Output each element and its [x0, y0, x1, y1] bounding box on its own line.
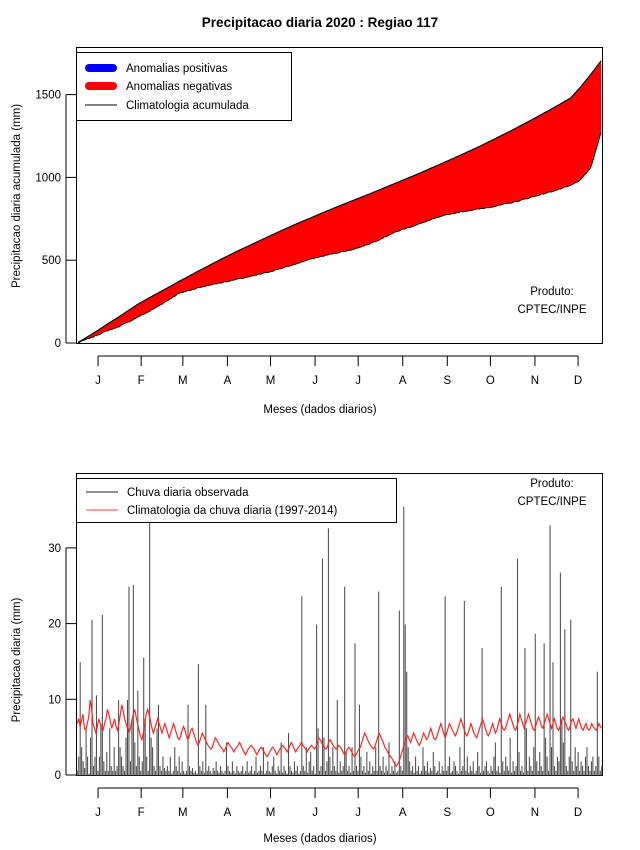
- cumulative-y-axis: 0 500 1000 1500: [35, 90, 76, 350]
- daily-y-axis-title: Precipitacao diaria (mm): [11, 598, 23, 723]
- legend-label-climatology-daily: Climatologia da chuva diaria (1997-2014): [127, 505, 337, 517]
- daily-xtick-D: D: [574, 807, 582, 819]
- legend-swatch-negative-anomaly: [85, 82, 117, 90]
- legend-label-observed-rain: Chuva diaria observada: [127, 487, 249, 499]
- climatology-daily-line: [77, 700, 602, 766]
- produto-value-bottom: CPTEC/INPE: [517, 496, 586, 508]
- daily-ytick-30: 30: [48, 543, 61, 555]
- daily-precipitation-panel: 0 10 20 30 Precipitacao diaria (mm) JFMA…: [0, 430, 640, 850]
- cumulative-ytick-0: 0: [55, 338, 61, 350]
- daily-xtick-S: S: [443, 807, 451, 819]
- daily-xtick-M: M: [178, 807, 188, 819]
- daily-xtick-O: O: [486, 807, 495, 819]
- daily-series-group: [77, 488, 602, 776]
- produto-value-top: CPTEC/INPE: [517, 304, 586, 316]
- daily-x-axis-title: Meses (dados diarios): [263, 833, 376, 845]
- daily-chart-svg: 0 10 20 30 Precipitacao diaria (mm) JFMA…: [0, 430, 640, 850]
- cumulative-ytick-500: 500: [42, 255, 61, 267]
- cumulative-xtick-N: N: [531, 375, 539, 387]
- daily-ytick-20: 20: [48, 619, 61, 631]
- cumulative-x-axis-title: Meses (dados diarios): [263, 404, 376, 416]
- daily-legend: Chuva diaria observada Climatologia da c…: [77, 479, 397, 523]
- cumulative-chart-svg: Precipitacao diaria 2020 : Regiao 117 0 …: [0, 0, 640, 430]
- cumulative-xtick-A: A: [224, 375, 232, 387]
- daily-xtick-A: A: [224, 807, 232, 819]
- figure-root: Precipitacao diaria 2020 : Regiao 117 0 …: [0, 0, 640, 850]
- legend-label-negative-anomaly: Anomalias negativas: [126, 81, 232, 93]
- cumulative-ytick-1500: 1500: [35, 90, 61, 102]
- cumulative-xtick-S: S: [443, 375, 451, 387]
- produto-label-bottom: Produto:: [530, 478, 573, 490]
- legend-label-positive-anomaly: Anomalias positivas: [126, 63, 228, 75]
- daily-xtick-A: A: [399, 807, 407, 819]
- daily-xtick-F: F: [138, 807, 145, 819]
- cumulative-xtick-J: J: [355, 375, 361, 387]
- cumulative-xtick-J: J: [312, 375, 318, 387]
- cumulative-xtick-A: A: [399, 375, 407, 387]
- daily-x-axis: JFMAMJJASOND: [95, 788, 582, 819]
- cumulative-xtick-D: D: [574, 375, 582, 387]
- daily-xtick-J: J: [95, 807, 101, 819]
- cumulative-xtick-J: J: [95, 375, 101, 387]
- cumulative-y-axis-title: Precipitacao diaria acumulada (mm): [11, 104, 23, 288]
- produto-annotation-bottom: Produto: CPTEC/INPE: [517, 478, 586, 508]
- cumulative-xtick-M: M: [178, 375, 188, 387]
- daily-xtick-N: N: [531, 807, 539, 819]
- cumulative-ytick-1000: 1000: [35, 172, 61, 184]
- cumulative-legend: Anomalias positivas Anomalias negativas …: [77, 53, 292, 121]
- daily-xtick-J: J: [355, 807, 361, 819]
- produto-annotation-top: Produto: CPTEC/INPE: [517, 286, 586, 316]
- daily-xtick-M: M: [266, 807, 276, 819]
- cumulative-precipitation-panel: Precipitacao diaria 2020 : Regiao 117 0 …: [0, 0, 640, 430]
- daily-ytick-0: 0: [55, 770, 61, 782]
- cumulative-xtick-F: F: [138, 375, 145, 387]
- legend-swatch-positive-anomaly: [85, 64, 117, 72]
- produto-label-top: Produto:: [530, 286, 573, 298]
- cumulative-xtick-O: O: [486, 375, 495, 387]
- observed-rain-bars: [77, 488, 602, 776]
- daily-xtick-J: J: [312, 807, 318, 819]
- cumulative-xtick-M: M: [266, 375, 276, 387]
- daily-y-axis: 0 10 20 30: [48, 543, 76, 782]
- legend-label-climatology-cumulative: Climatologia acumulada: [126, 100, 249, 112]
- daily-ytick-10: 10: [48, 694, 61, 706]
- page-title: Precipitacao diaria 2020 : Regiao 117: [202, 15, 438, 30]
- cumulative-x-axis: JFMAMJJASOND: [95, 356, 582, 387]
